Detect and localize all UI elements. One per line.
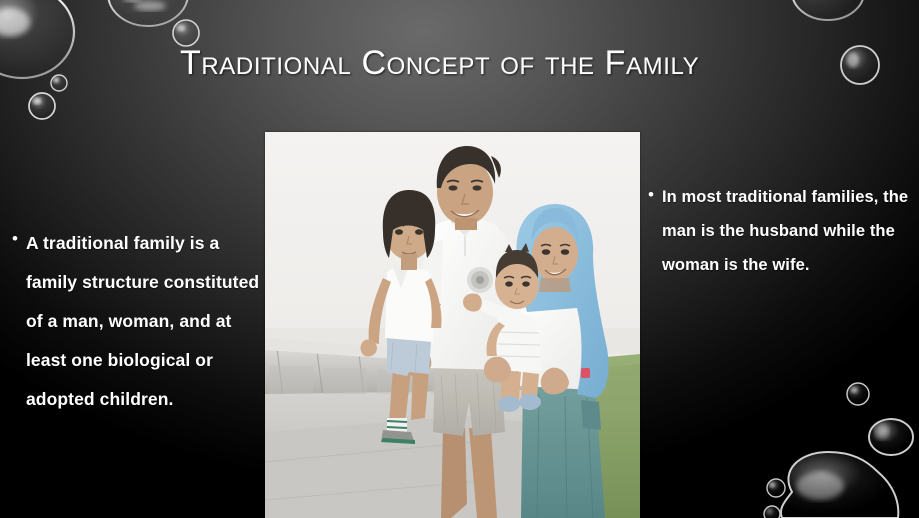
bubble-top-right-edge xyxy=(792,0,864,20)
bubble-top-small xyxy=(173,20,199,46)
bubble-bottom-right-tiny xyxy=(847,383,869,405)
bubble-bottom-tiny-b xyxy=(764,506,780,518)
family-photo-illustration xyxy=(265,132,640,518)
bubble-bottom-tiny-a xyxy=(767,479,785,497)
family-photo xyxy=(265,132,640,518)
bullet-icon: • xyxy=(12,224,18,247)
slide-canvas: Traditional Concept of the Family xyxy=(0,0,919,518)
left-bullet-row: • A traditional family is a family struc… xyxy=(12,224,262,419)
right-bullet-text: In most traditional families, the man is… xyxy=(662,180,910,282)
left-bullet-text: A traditional family is a family structu… xyxy=(26,224,262,419)
bubble-bottom-merged-blob xyxy=(781,452,898,518)
bubble-left-tiny xyxy=(51,75,67,91)
bullet-icon: • xyxy=(648,180,654,203)
bubble-bottom-right-oval xyxy=(869,419,913,455)
right-text-block: • In most traditional families, the man … xyxy=(648,180,910,282)
bubble-top-edge xyxy=(108,0,188,26)
slide-title: Traditional Concept of the Family xyxy=(180,44,800,83)
bubble-top-left-large xyxy=(0,0,74,78)
bubble-left-small xyxy=(29,93,55,119)
left-text-block: • A traditional family is a family struc… xyxy=(12,224,262,419)
bubble-right-small xyxy=(841,46,879,84)
right-bullet-row: • In most traditional families, the man … xyxy=(648,180,910,282)
